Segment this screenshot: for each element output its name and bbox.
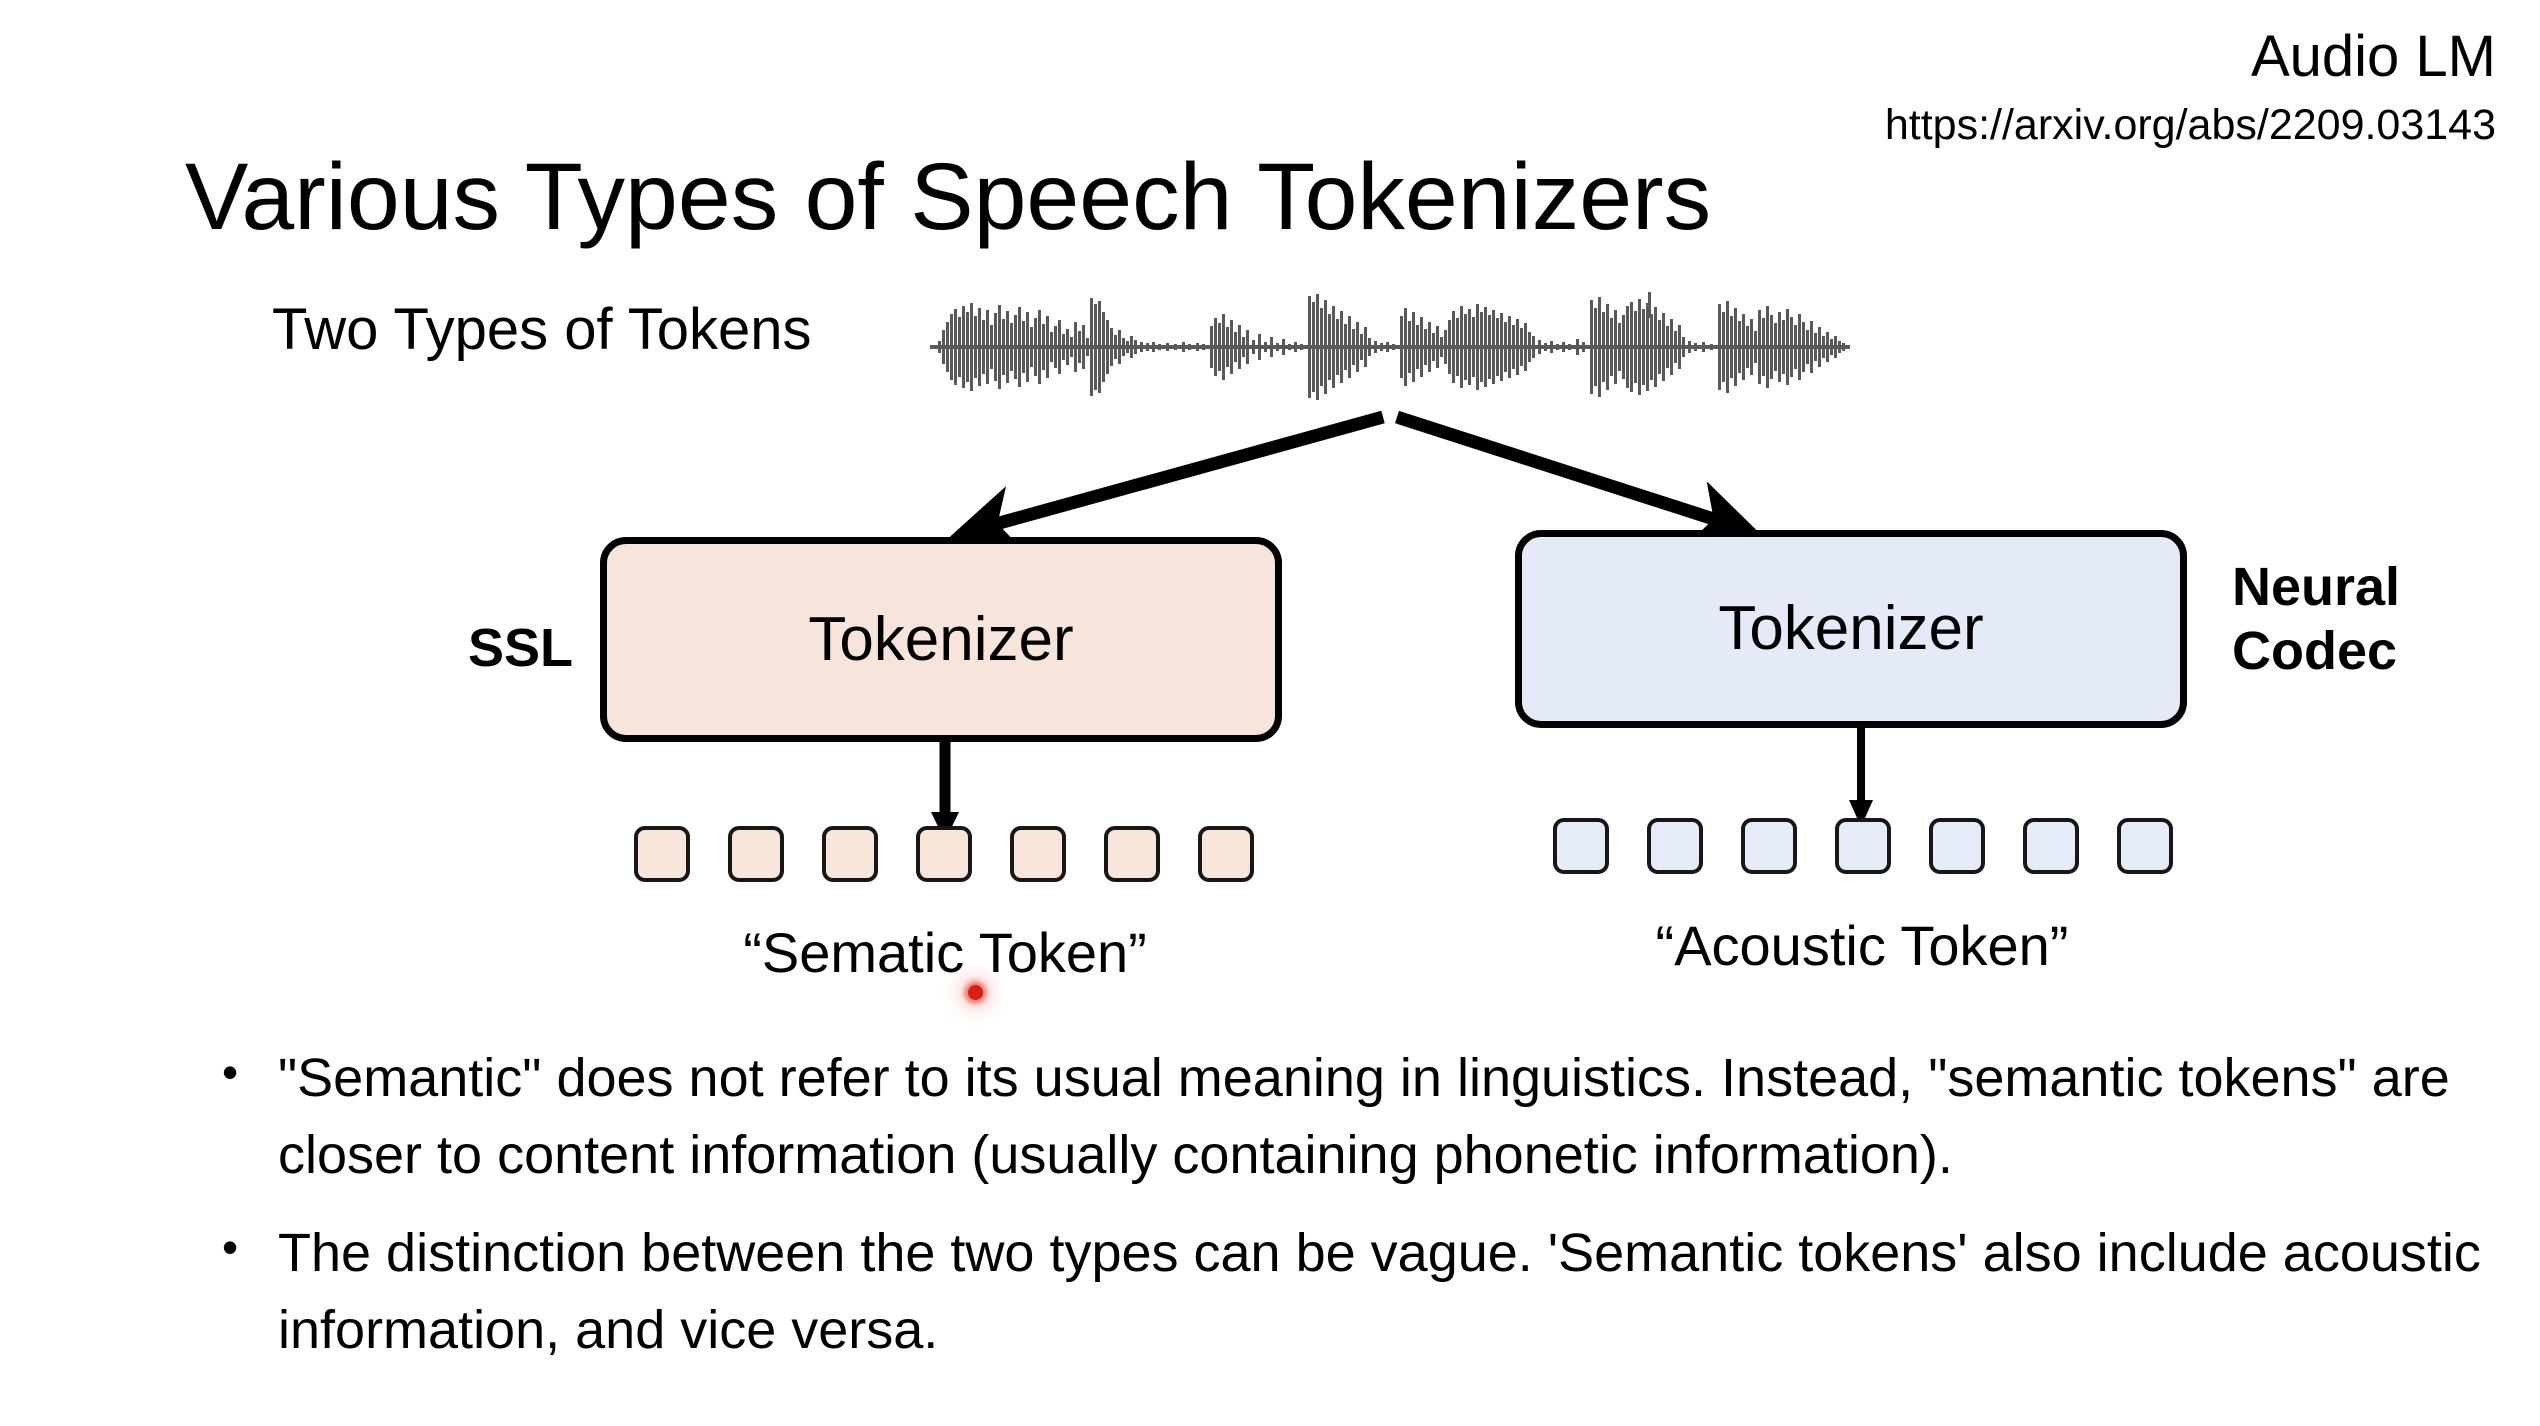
token-square xyxy=(1553,818,1609,874)
audio-waveform-icon xyxy=(930,292,1850,402)
tokenizer-box-ssl-label: Tokenizer xyxy=(808,609,1073,671)
list-item-text: "Semantic" does not refer to its usual m… xyxy=(278,1040,2512,1193)
token-square xyxy=(634,826,690,882)
down-arrow-icon-codec xyxy=(1841,728,1881,828)
tokenizer-box-codec-label: Tokenizer xyxy=(1718,598,1983,660)
bullet-marker-icon: • xyxy=(222,1215,278,1280)
page-title: Various Types of Speech Tokenizers xyxy=(185,148,1711,248)
laser-pointer-dot xyxy=(968,985,983,1000)
paper-name-label: Audio LM xyxy=(2251,28,2496,86)
neural-codec-label-line2: Codec xyxy=(2232,620,2400,684)
caption-semantic-token: “Sematic Token” xyxy=(743,925,1147,981)
token-square xyxy=(2023,818,2079,874)
list-item: • The distinction between the two types … xyxy=(222,1215,2512,1368)
token-row-semantic xyxy=(634,826,1254,882)
token-square xyxy=(1647,818,1703,874)
ssl-label: SSL xyxy=(468,621,573,675)
slide-canvas: Audio LM https://arxiv.org/abs/2209.0314… xyxy=(0,0,2540,1426)
token-square xyxy=(728,826,784,882)
token-square xyxy=(1010,826,1066,882)
neural-codec-label: Neural Codec xyxy=(2232,556,2400,683)
tokenizer-box-ssl[interactable]: Tokenizer xyxy=(600,537,1282,742)
token-square xyxy=(1104,826,1160,882)
caption-acoustic-token: “Acoustic Token” xyxy=(1656,918,2069,974)
token-square xyxy=(1741,818,1797,874)
paper-url-link[interactable]: https://arxiv.org/abs/2209.03143 xyxy=(1885,104,2496,147)
token-square xyxy=(1198,826,1254,882)
tokenizer-box-codec[interactable]: Tokenizer xyxy=(1515,530,2187,728)
token-square xyxy=(1929,818,1985,874)
bullet-list: • "Semantic" does not refer to its usual… xyxy=(222,1040,2512,1391)
token-row-acoustic xyxy=(1553,818,2173,874)
bullet-marker-icon: • xyxy=(222,1040,278,1105)
list-item-text: The distinction between the two types ca… xyxy=(278,1215,2512,1368)
token-square xyxy=(822,826,878,882)
list-item: • "Semantic" does not refer to its usual… xyxy=(222,1040,2512,1193)
token-square xyxy=(916,826,972,882)
neural-codec-label-line1: Neural xyxy=(2232,556,2400,620)
section-label: Two Types of Tokens xyxy=(272,301,812,359)
token-square xyxy=(1835,818,1891,874)
token-square xyxy=(2117,818,2173,874)
